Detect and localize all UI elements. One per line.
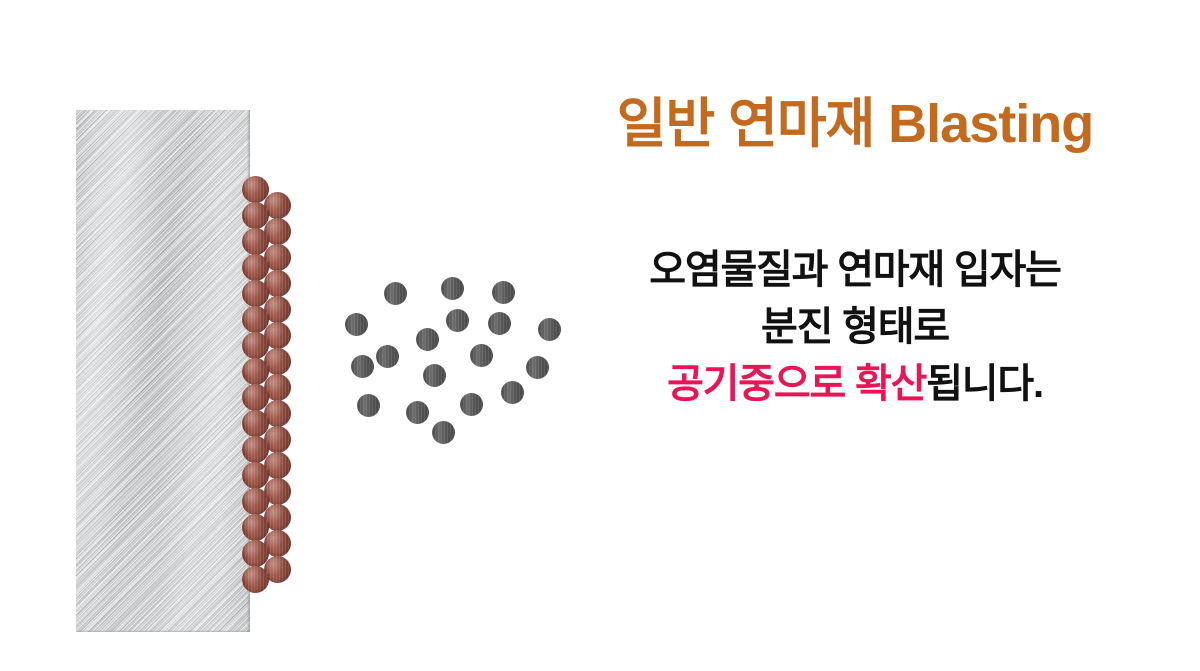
slide-body-text: 오염물질과 연마재 입자는 분진 형태로 공기중으로 확산됩니다. xyxy=(560,242,1150,412)
dust-particle xyxy=(538,318,561,341)
dust-particle xyxy=(345,313,368,336)
coating-bead xyxy=(242,410,269,437)
body-line-1: 오염물질과 연마재 입자는 xyxy=(560,242,1150,299)
dust-particle xyxy=(492,281,515,304)
dust-particle xyxy=(488,312,511,335)
dust-particle xyxy=(416,328,439,351)
coating-bead xyxy=(242,176,269,203)
coating-bead xyxy=(242,488,269,515)
coating-bead xyxy=(242,202,269,229)
coating-bead xyxy=(242,228,269,255)
coating-bead xyxy=(242,436,269,463)
coating-bead xyxy=(242,462,269,489)
dust-particle xyxy=(423,364,446,387)
dust-particle xyxy=(501,381,524,404)
coating-bead xyxy=(242,540,269,567)
coating-bead xyxy=(242,566,269,593)
coating-bead xyxy=(242,332,269,359)
dust-particle xyxy=(406,401,429,424)
body-line-3-tail: 됩니다. xyxy=(926,362,1043,406)
dust-particle xyxy=(384,282,407,305)
text-column: 일반 연마재 Blasting 오염물질과 연마재 입자는 분진 형태로 공기중… xyxy=(560,95,1150,413)
dust-particle xyxy=(441,277,464,300)
dust-particle xyxy=(351,355,374,378)
dust-particle xyxy=(526,356,549,379)
dust-particle xyxy=(376,345,399,368)
coating-bead xyxy=(242,384,269,411)
body-line-3: 공기중으로 확산됩니다. xyxy=(560,356,1150,413)
dust-particle xyxy=(357,394,380,417)
coating-bead xyxy=(242,358,269,385)
slide-canvas: 일반 연마재 Blasting 오염물질과 연마재 입자는 분진 형태로 공기중… xyxy=(0,0,1200,671)
coating-bead xyxy=(242,306,269,333)
dust-particle xyxy=(460,393,483,416)
dust-particle xyxy=(446,309,469,332)
body-line-2: 분진 형태로 xyxy=(560,299,1150,356)
dust-particle xyxy=(470,344,493,367)
body-line-3-highlight: 공기중으로 확산 xyxy=(667,362,926,406)
dust-particle xyxy=(432,421,455,444)
coating-bead xyxy=(242,280,269,307)
coating-bead xyxy=(242,514,269,541)
coating-bead xyxy=(242,254,269,281)
slide-title: 일반 연마재 Blasting xyxy=(560,95,1150,154)
